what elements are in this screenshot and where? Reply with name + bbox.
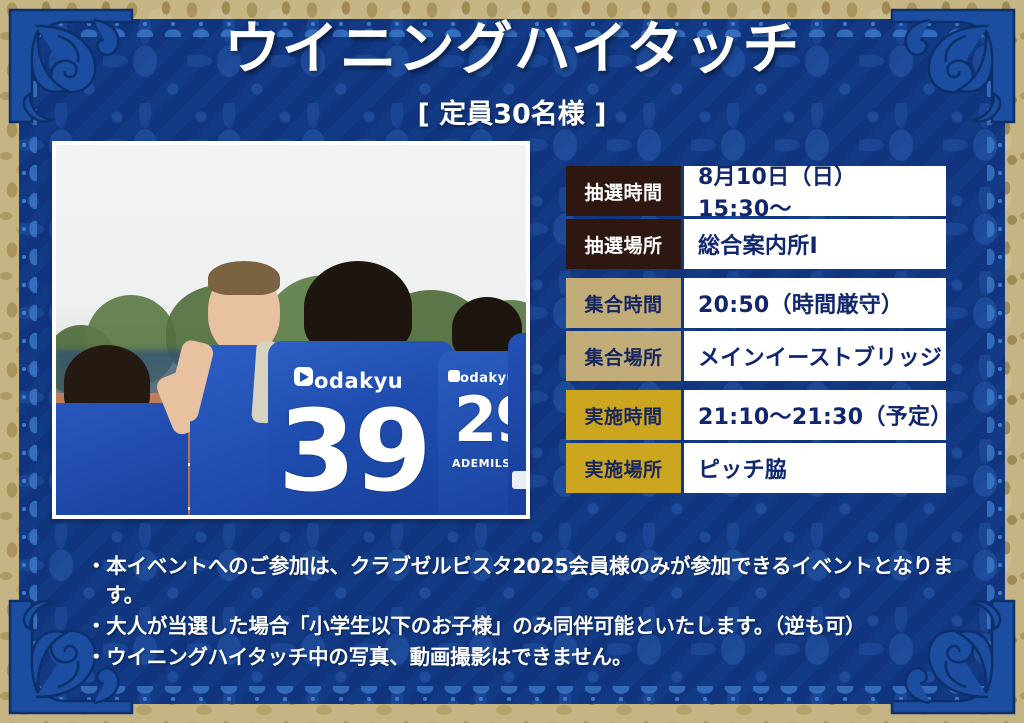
table-row-value: 総合案内所Ⅰ xyxy=(681,219,946,269)
table-group-event: 実施時間 21:10〜21:30（予定） 実施場所 ピッチ脇 xyxy=(566,390,946,493)
table-group-lottery: 抽選時間 8月10日（日）15:30〜 抽選場所 総合案内所Ⅰ xyxy=(566,166,946,269)
note-item: ・大人が当選した場合「小学生以下のお子様」のみ同伴可能といたします。（逆も可） xyxy=(86,612,962,641)
table-row-label: 実施場所 xyxy=(566,443,681,493)
table-row-label: 集合場所 xyxy=(566,331,681,381)
table-row: 抽選時間 8月10日（日）15:30〜 xyxy=(566,166,946,216)
event-photo-frame: odakyu 39 odakyu 29 ADEMILSON xyxy=(52,141,530,519)
table-row: 実施場所 ピッチ脇 xyxy=(566,443,946,493)
notes-list: ・本イベントへのご参加は、クラブゼルビスタ2025会員様のみが参加できるイベント… xyxy=(86,552,962,674)
note-item: ・本イベントへのご参加は、クラブゼルビスタ2025会員様のみが参加できるイベント… xyxy=(86,552,962,610)
page-title: ウイニングハイタッチ xyxy=(0,20,1024,80)
table-row-value: 20:50（時間厳守） xyxy=(681,278,946,328)
table-row-label: 集合時間 xyxy=(566,278,681,328)
table-row: 集合時間 20:50（時間厳守） xyxy=(566,278,946,328)
note-item: ・ウイニングハイタッチ中の写真、動画撮影はできません。 xyxy=(86,643,962,672)
event-photo: odakyu 39 odakyu 29 ADEMILSON xyxy=(56,145,526,515)
table-row-label: 抽選場所 xyxy=(566,219,681,269)
table-row: 集合場所 メインイーストブリッジ xyxy=(566,331,946,381)
poster-content: ウイニングハイタッチ [ 定員30名様 ] xyxy=(0,0,1024,723)
table-row-label: 抽選時間 xyxy=(566,166,681,216)
poster-root: ウイニングハイタッチ [ 定員30名様 ] xyxy=(0,0,1024,723)
table-row-label: 実施時間 xyxy=(566,390,681,440)
table-row-value: 8月10日（日）15:30〜 xyxy=(681,166,946,216)
table-row: 実施時間 21:10〜21:30（予定） xyxy=(566,390,946,440)
table-row: 抽選場所 総合案内所Ⅰ xyxy=(566,219,946,269)
table-group-meeting: 集合時間 20:50（時間厳守） 集合場所 メインイーストブリッジ xyxy=(566,278,946,381)
capacity-subtitle: [ 定員30名様 ] xyxy=(0,92,1024,131)
table-row-value: ピッチ脇 xyxy=(681,443,946,493)
table-row-value: 21:10〜21:30（予定） xyxy=(681,390,946,440)
jersey-number-main: 39 xyxy=(278,387,430,515)
event-info-table: 抽選時間 8月10日（日）15:30〜 抽選場所 総合案内所Ⅰ 集合時間 20:… xyxy=(566,166,946,493)
table-row-value: メインイーストブリッジ xyxy=(681,331,946,381)
